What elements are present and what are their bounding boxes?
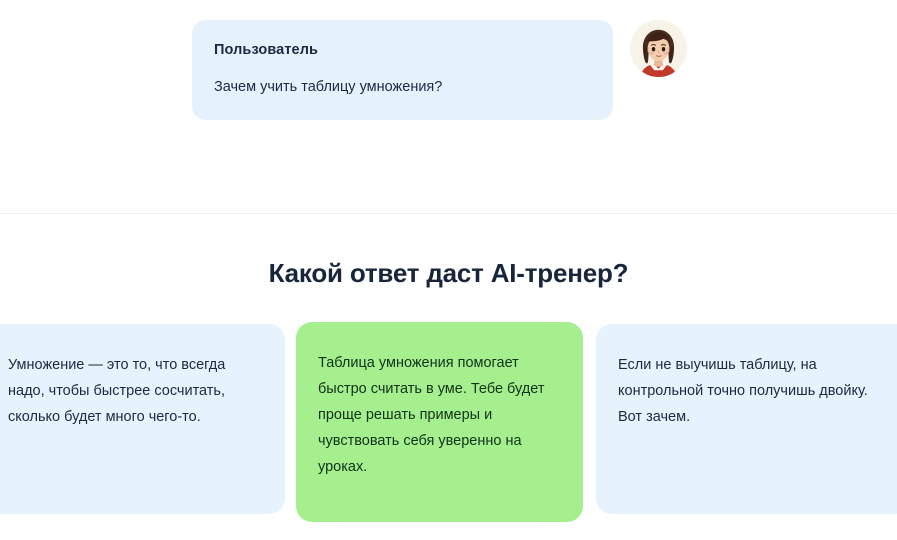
answer-card-variant-c[interactable]: Если не выучишь таблицу, на контрольной … [596,324,897,514]
page-title: Какой ответ даст AI-тренер? [0,258,897,289]
answer-card-variant-a[interactable]: Умножение — это то, что всегда надо, что… [0,324,285,514]
user-message-bubble: Пользователь Зачем учить таблицу умножен… [192,20,613,120]
chat-section: Пользователь Зачем учить таблицу умножен… [0,0,897,213]
answer-card-text: Таблица умножения помогает быстро считат… [318,350,561,480]
answer-card-variant-b[interactable]: Таблица умножения помогает быстро считат… [296,322,583,522]
answers-section: Какой ответ даст AI-тренер? Умножение — … [0,214,897,540]
message-body-text: Зачем учить таблицу умножения? [214,77,591,97]
message-author-label: Пользователь [214,41,591,60]
answer-card-text: Умножение — это то, что всегда надо, что… [8,352,263,430]
chat-message-row: Пользователь Зачем учить таблицу умножен… [192,20,687,120]
answer-card-text: Если не выучишь таблицу, на контрольной … [618,352,889,430]
girl-avatar-icon [630,20,687,77]
answer-cards-container: Умножение — это то, что всегда надо, что… [0,318,897,528]
